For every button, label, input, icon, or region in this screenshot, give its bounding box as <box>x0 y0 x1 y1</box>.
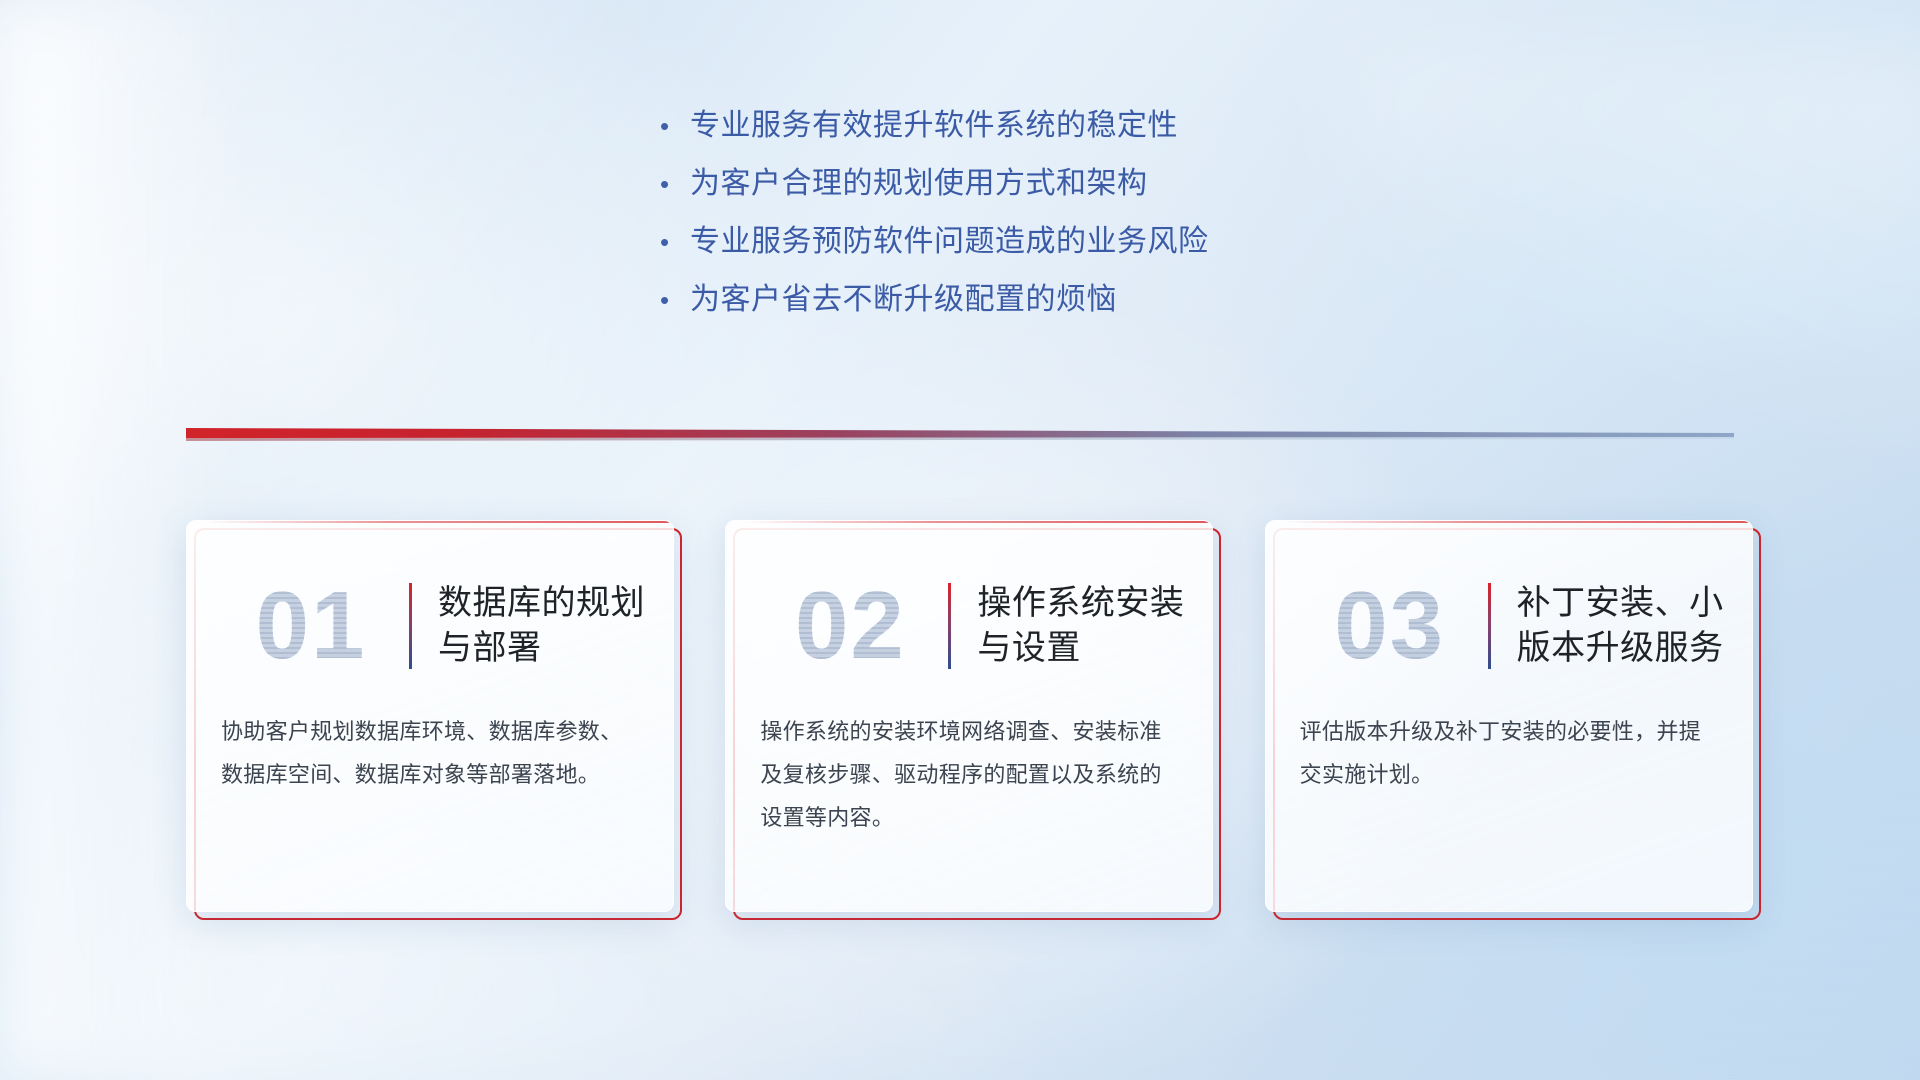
list-item: • 为客户合理的规划使用方式和架构 <box>660 166 1560 202</box>
card-number-01: 01 <box>213 578 409 674</box>
card-panel: 02 操作系统安装与设置 操作系统的安装环境网络调查、安装标准及复核步骤、驱动程… <box>725 520 1213 912</box>
card-description: 评估版本升级及补丁安装的必要性，并提交实施计划。 <box>1266 711 1752 797</box>
section-divider <box>186 424 1734 448</box>
slide-root: • 专业服务有效提升软件系统的稳定性 • 为客户合理的规划使用方式和架构 • 专… <box>0 0 1920 1080</box>
card-description: 操作系统的安装环境网络调查、安装标准及复核步骤、驱动程序的配置以及系统的设置等内… <box>726 711 1212 840</box>
bullet-text: 专业服务预防软件问题造成的业务风险 <box>690 224 1209 260</box>
card-header: 01 数据库的规划与部署 <box>187 521 673 697</box>
bullet-dot-icon: • <box>660 287 690 313</box>
card-divider-line <box>1488 583 1491 669</box>
list-item: • 专业服务有效提升软件系统的稳定性 <box>660 108 1560 144</box>
list-item: • 专业服务预防软件问题造成的业务风险 <box>660 224 1560 260</box>
service-card-03[interactable]: 03 补丁安装、小版本升级服务 评估版本升级及补丁安装的必要性，并提交实施计划。 <box>1265 520 1746 912</box>
benefits-bullet-list: • 专业服务有效提升软件系统的稳定性 • 为客户合理的规划使用方式和架构 • 专… <box>660 108 1560 340</box>
list-item: • 为客户省去不断升级配置的烦恼 <box>660 282 1560 318</box>
card-title: 补丁安装、小版本升级服务 <box>1517 581 1726 671</box>
bullet-dot-icon: • <box>660 229 690 255</box>
service-card-02[interactable]: 02 操作系统安装与设置 操作系统的安装环境网络调查、安装标准及复核步骤、驱动程… <box>725 520 1206 912</box>
card-number-02: 02 <box>752 578 948 674</box>
bullet-dot-icon: • <box>660 171 690 197</box>
bullet-dot-icon: • <box>660 113 690 139</box>
card-title: 操作系统安装与设置 <box>977 581 1186 671</box>
card-divider-line <box>948 583 951 669</box>
card-header: 03 补丁安装、小版本升级服务 <box>1266 521 1752 697</box>
card-number-03: 03 <box>1292 578 1488 674</box>
card-header: 02 操作系统安装与设置 <box>726 521 1212 697</box>
bullet-text: 专业服务有效提升软件系统的稳定性 <box>690 108 1178 144</box>
service-card-01[interactable]: 01 数据库的规划与部署 协助客户规划数据库环境、数据库参数、数据库空间、数据库… <box>186 520 667 912</box>
background-light-streak-top-left <box>0 0 710 555</box>
card-title: 数据库的规划与部署 <box>438 581 647 671</box>
service-card-list: 01 数据库的规划与部署 协助客户规划数据库环境、数据库参数、数据库空间、数据库… <box>186 520 1746 912</box>
bullet-text: 为客户合理的规划使用方式和架构 <box>690 166 1148 202</box>
card-description: 协助客户规划数据库环境、数据库参数、数据库空间、数据库对象等部署落地。 <box>187 711 673 797</box>
card-divider-line <box>409 583 412 669</box>
card-panel: 03 补丁安装、小版本升级服务 评估版本升级及补丁安装的必要性，并提交实施计划。 <box>1265 520 1753 912</box>
card-panel: 01 数据库的规划与部署 协助客户规划数据库环境、数据库参数、数据库空间、数据库… <box>186 520 674 912</box>
bullet-text: 为客户省去不断升级配置的烦恼 <box>690 282 1117 318</box>
